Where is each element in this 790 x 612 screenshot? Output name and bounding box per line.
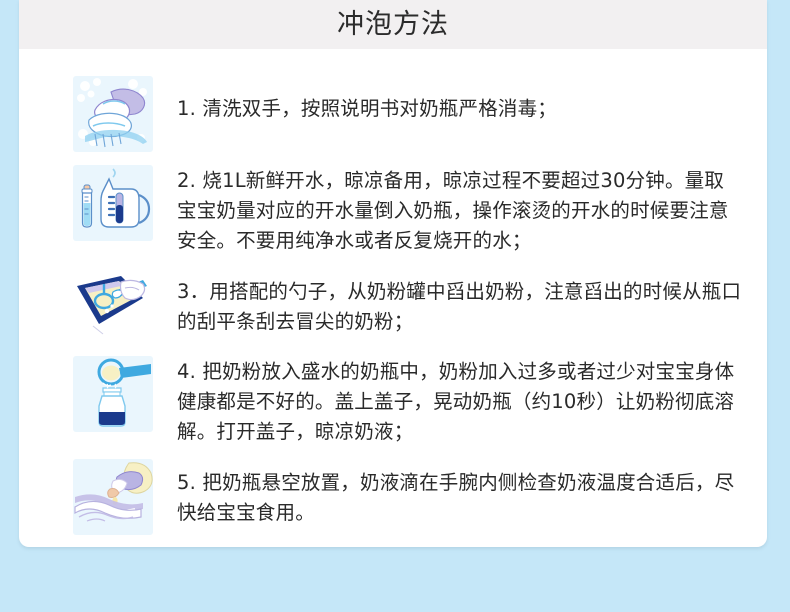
washing-hands-icon: [73, 76, 153, 152]
card-header: 冲泡方法: [19, 0, 767, 49]
list-item-text: 2. 烧1L新鲜开水，晾凉备用，晾凉过程不要超过30分钟。量取宝宝奶量对应的开水…: [177, 165, 743, 256]
test-milk-on-wrist-icon: [73, 459, 153, 535]
list-item: 1. 清洗双手，按照说明书对奶瓶严格消毒；: [19, 76, 767, 152]
product-detail-page: 冲泡方法: [0, 0, 790, 612]
list-item: 4. 把奶粉放入盛水的奶瓶中，奶粉加入过多或者过少对宝宝身体健康都是不好的。盖上…: [19, 356, 767, 447]
list-item: 5. 把奶瓶悬空放置，奶液滴在手腕内侧检查奶液温度合适后，尽快给宝宝食用。: [19, 459, 767, 535]
kettle-and-bottle-icon: [73, 165, 153, 241]
list-item-text: 1. 清洗双手，按照说明书对奶瓶严格消毒；: [177, 76, 743, 124]
list-item-text: 5. 把奶瓶悬空放置，奶液滴在手腕内侧检查奶液温度合适后，尽快给宝宝食用。: [177, 459, 743, 528]
steps-list: 1. 清洗双手，按照说明书对奶瓶严格消毒；: [19, 49, 767, 535]
list-item-text: 4. 把奶粉放入盛水的奶瓶中，奶粉加入过多或者过少对宝宝身体健康都是不好的。盖上…: [177, 356, 743, 447]
scoop-from-tin-icon: [73, 268, 153, 344]
list-item: 3．用搭配的勺子，从奶粉罐中舀出奶粉，注意舀出的时候从瓶口的刮平条刮去冒尖的奶粉…: [19, 268, 767, 344]
list-item: 2. 烧1L新鲜开水，晾凉备用，晾凉过程不要超过30分钟。量取宝宝奶量对应的开水…: [19, 165, 767, 256]
instructions-card: 冲泡方法: [19, 0, 767, 547]
pour-powder-into-bottle-icon: [73, 356, 153, 432]
page-title: 冲泡方法: [337, 10, 449, 40]
list-item-text: 3．用搭配的勺子，从奶粉罐中舀出奶粉，注意舀出的时候从瓶口的刮平条刮去冒尖的奶粉…: [177, 268, 743, 337]
